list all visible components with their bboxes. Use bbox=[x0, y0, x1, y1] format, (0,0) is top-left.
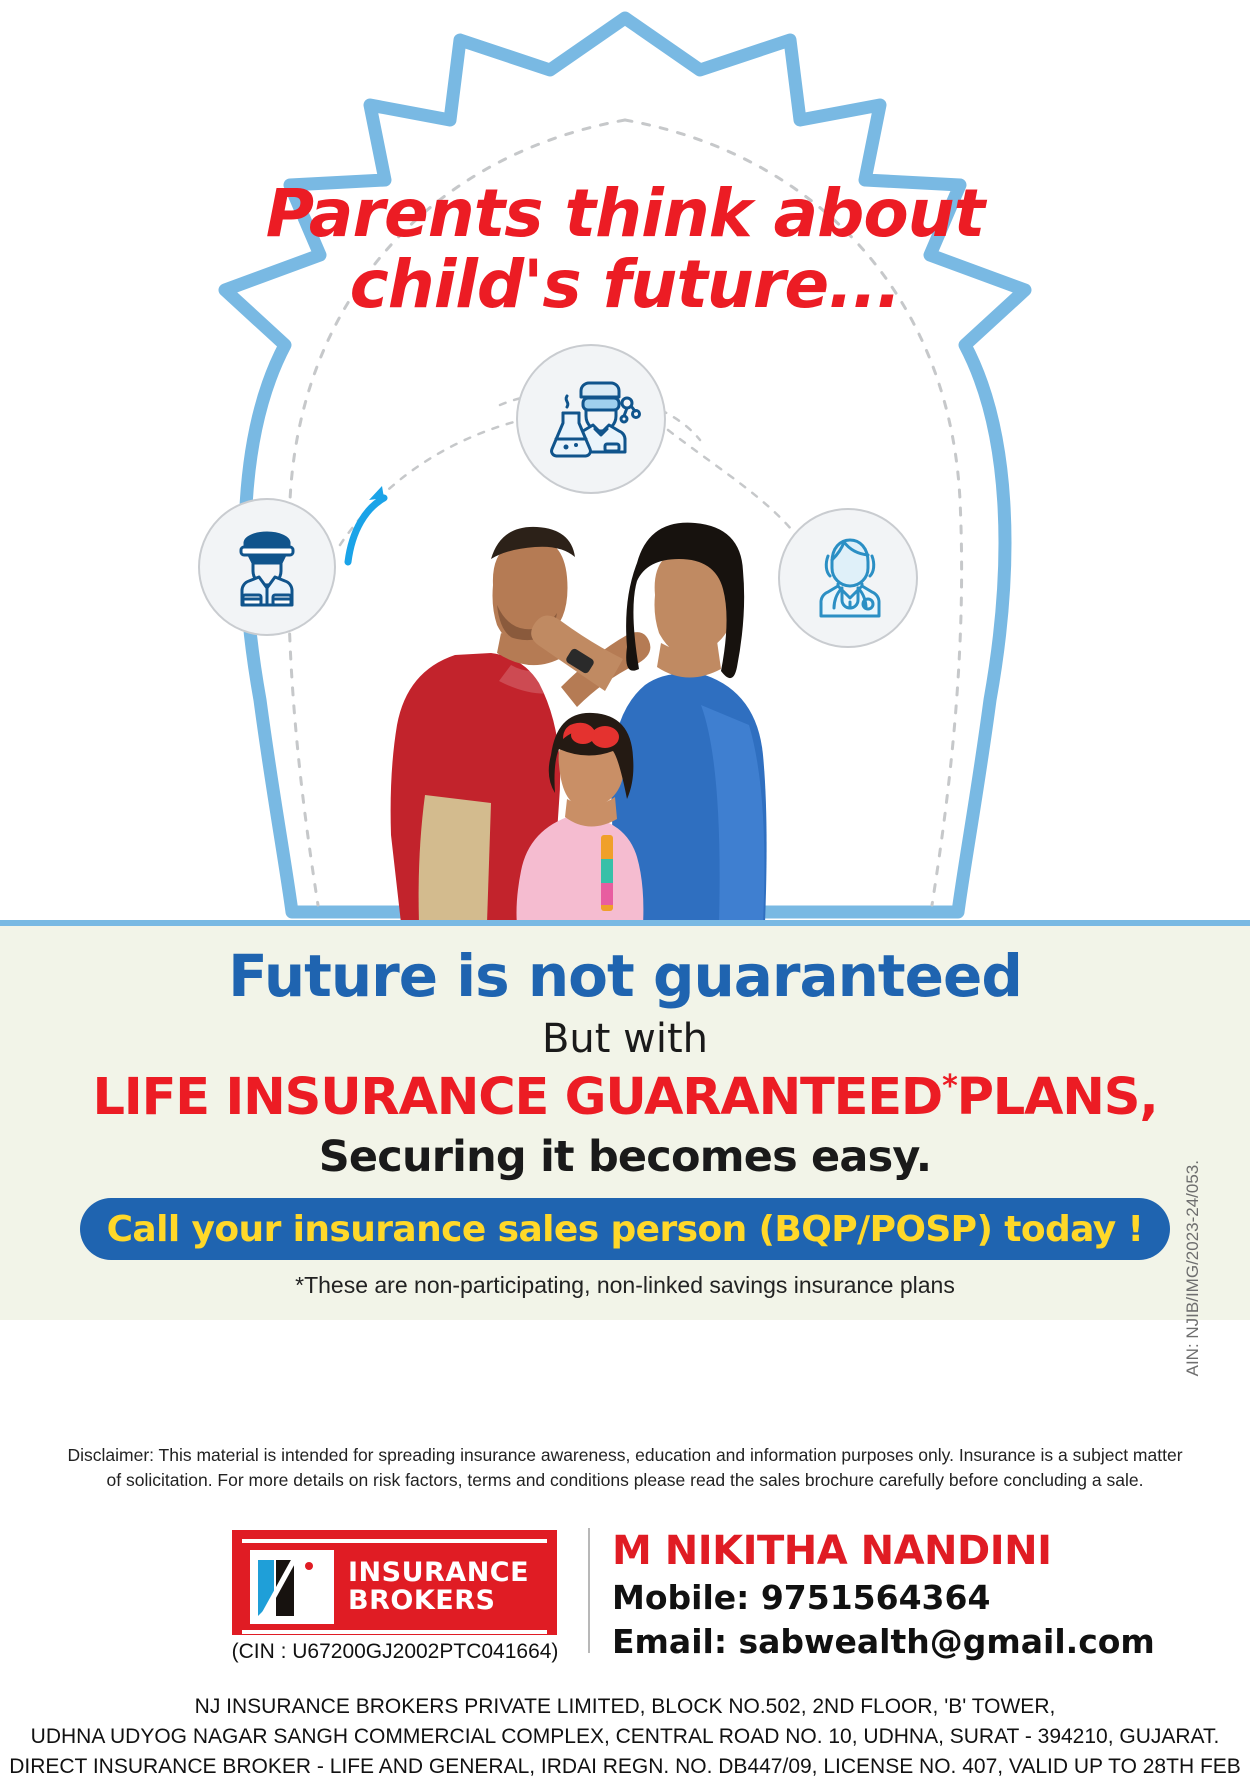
cin-number: (CIN : U67200GJ2002PTC041664) bbox=[210, 1640, 580, 1664]
contact-section: INSURANCE BROKERS (CIN : U67200GJ2002PTC… bbox=[0, 1510, 1250, 1695]
agent-name: M NIKITHA NANDINI bbox=[612, 1528, 1051, 1574]
scientist-icon-bubble bbox=[516, 344, 666, 494]
pilot-icon-bubble bbox=[198, 498, 336, 636]
message-securing-easy: Securing it becomes easy. bbox=[0, 1132, 1250, 1182]
poster-root: Parents think about child's future... bbox=[0, 0, 1250, 1780]
message-plans-prefix: LIFE INSURANCE GUARANTEED bbox=[93, 1068, 943, 1127]
headline-line-2: child's future... bbox=[0, 249, 1250, 320]
agent-email[interactable]: Email: sabwealth@gmail.com bbox=[612, 1622, 1155, 1661]
scientist-icon bbox=[539, 367, 643, 471]
page-title: Parents think about child's future... bbox=[0, 178, 1250, 321]
band-divider bbox=[0, 920, 1250, 926]
disclaimer-text: Disclaimer: This material is intended fo… bbox=[60, 1443, 1190, 1494]
nj-insurance-brokers-logo: INSURANCE BROKERS bbox=[232, 1530, 557, 1635]
headline-line-1: Parents think about bbox=[0, 178, 1250, 249]
message-but-with: But with bbox=[0, 1016, 1250, 1062]
family-photo bbox=[305, 455, 845, 920]
cta-label: Call your insurance sales person (BQP/PO… bbox=[107, 1209, 1144, 1250]
message-life-insurance-plans: LIFE INSURANCE GUARANTEED*PLANS, bbox=[0, 1068, 1250, 1127]
doctor-icon bbox=[798, 528, 898, 628]
agent-mobile[interactable]: Mobile: 9751564364 bbox=[612, 1578, 990, 1617]
address-line-2: UDHNA UDYOG NAGAR SANGH COMMERCIAL COMPL… bbox=[0, 1722, 1250, 1752]
logo-word-brokers: BROKERS bbox=[348, 1587, 529, 1615]
ain-code: AIN: NJIB/IMG/2023-24/053. bbox=[1183, 1160, 1203, 1376]
hero-section: Parents think about child's future... bbox=[0, 0, 1250, 920]
nj-monogram bbox=[250, 1550, 334, 1624]
pilot-icon bbox=[219, 519, 315, 615]
message-future-not-guaranteed: Future is not guaranteed bbox=[0, 942, 1250, 1010]
asterisk-marker: * bbox=[942, 1069, 957, 1104]
logo-word-insurance: INSURANCE bbox=[348, 1559, 529, 1587]
logo-wordmark: INSURANCE BROKERS bbox=[348, 1559, 529, 1614]
call-sales-person-button[interactable]: Call your insurance sales person (BQP/PO… bbox=[80, 1198, 1170, 1260]
doctor-icon-bubble bbox=[778, 508, 918, 648]
vertical-divider bbox=[588, 1528, 590, 1653]
company-address: NJ INSURANCE BROKERS PRIVATE LIMITED, BL… bbox=[0, 1692, 1250, 1780]
message-band: Future is not guaranteed But with LIFE I… bbox=[0, 920, 1250, 1320]
nj-monogram-icon bbox=[250, 1550, 334, 1624]
logo-inner-frame: INSURANCE BROKERS bbox=[242, 1539, 547, 1634]
address-line-3: DIRECT INSURANCE BROKER - LIFE AND GENER… bbox=[0, 1752, 1250, 1780]
address-line-1: NJ INSURANCE BROKERS PRIVATE LIMITED, BL… bbox=[0, 1692, 1250, 1722]
plans-footnote: *These are non-participating, non-linked… bbox=[0, 1272, 1250, 1299]
message-plans-suffix: PLANS, bbox=[957, 1068, 1158, 1127]
